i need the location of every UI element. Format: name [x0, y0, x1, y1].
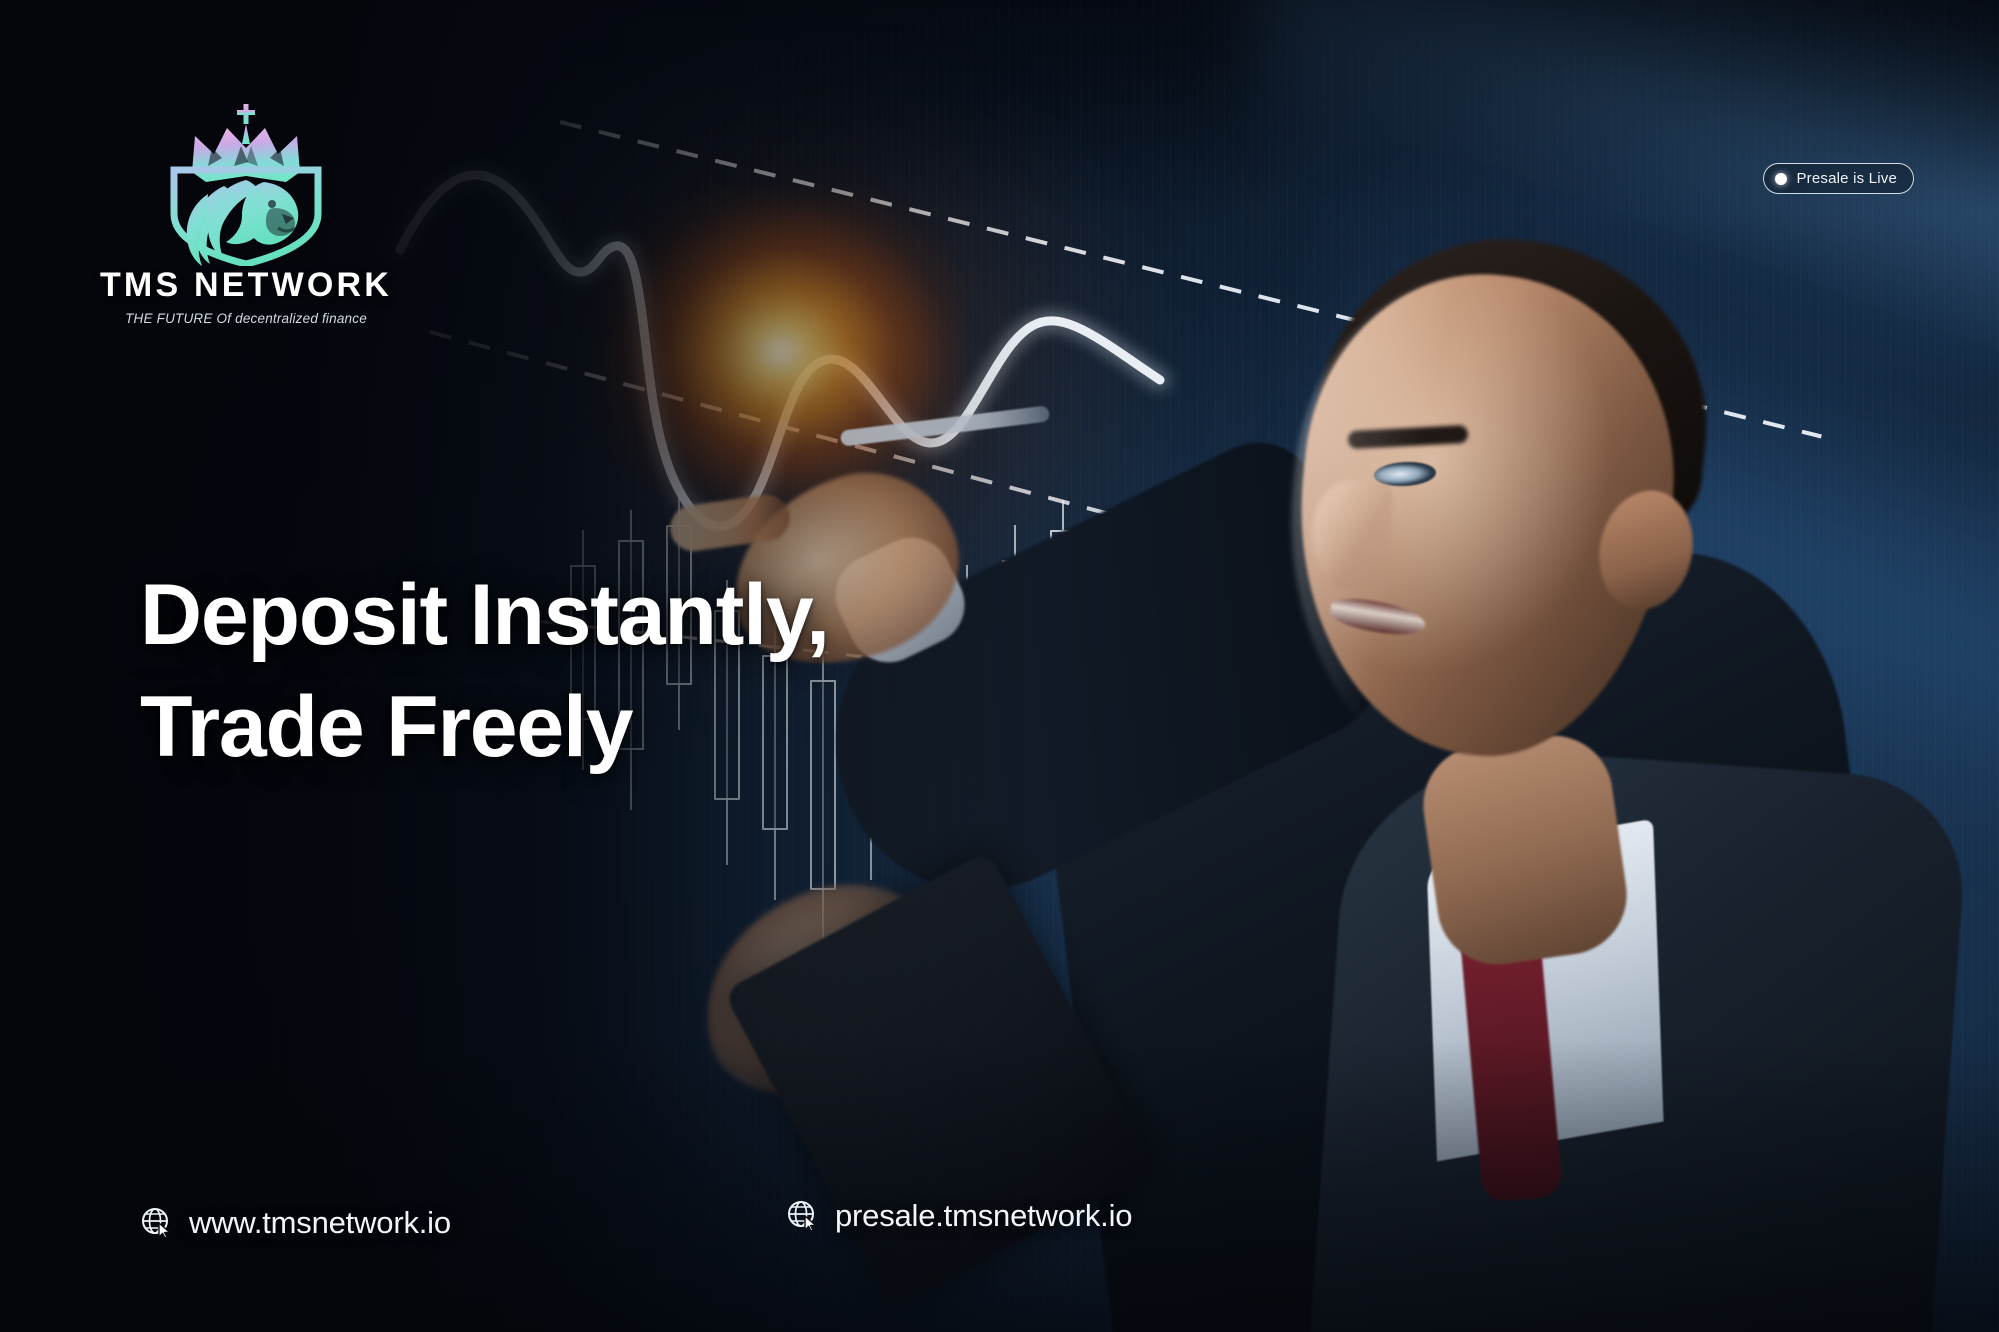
crowned-lion-shield-icon — [96, 96, 396, 266]
promotional-banner: TMS NETWORK THE FUTURE Of decentralized … — [0, 0, 1999, 1332]
globe-cursor-icon — [786, 1199, 820, 1233]
website-link-label: www.tmsnetwork.io — [189, 1205, 451, 1241]
brand-name: TMS NETWORK — [96, 268, 396, 302]
globe-cursor-icon — [140, 1206, 174, 1240]
headline-line-2: Trade Freely — [140, 672, 829, 784]
live-status-dot-icon — [1775, 173, 1787, 185]
website-link[interactable]: www.tmsnetwork.io — [140, 1205, 451, 1241]
presale-link-label: presale.tmsnetwork.io — [835, 1198, 1132, 1234]
page-title: Deposit Instantly, Trade Freely — [140, 560, 829, 784]
presale-status-badge[interactable]: Presale is Live — [1763, 163, 1914, 194]
presale-link[interactable]: presale.tmsnetwork.io — [786, 1198, 1132, 1234]
brand-logo[interactable]: TMS NETWORK THE FUTURE Of decentralized … — [96, 96, 396, 326]
presale-badge-label: Presale is Live — [1796, 170, 1897, 187]
headline-line-1: Deposit Instantly, — [140, 560, 829, 672]
brand-tagline: THE FUTURE Of decentralized finance — [96, 311, 396, 326]
